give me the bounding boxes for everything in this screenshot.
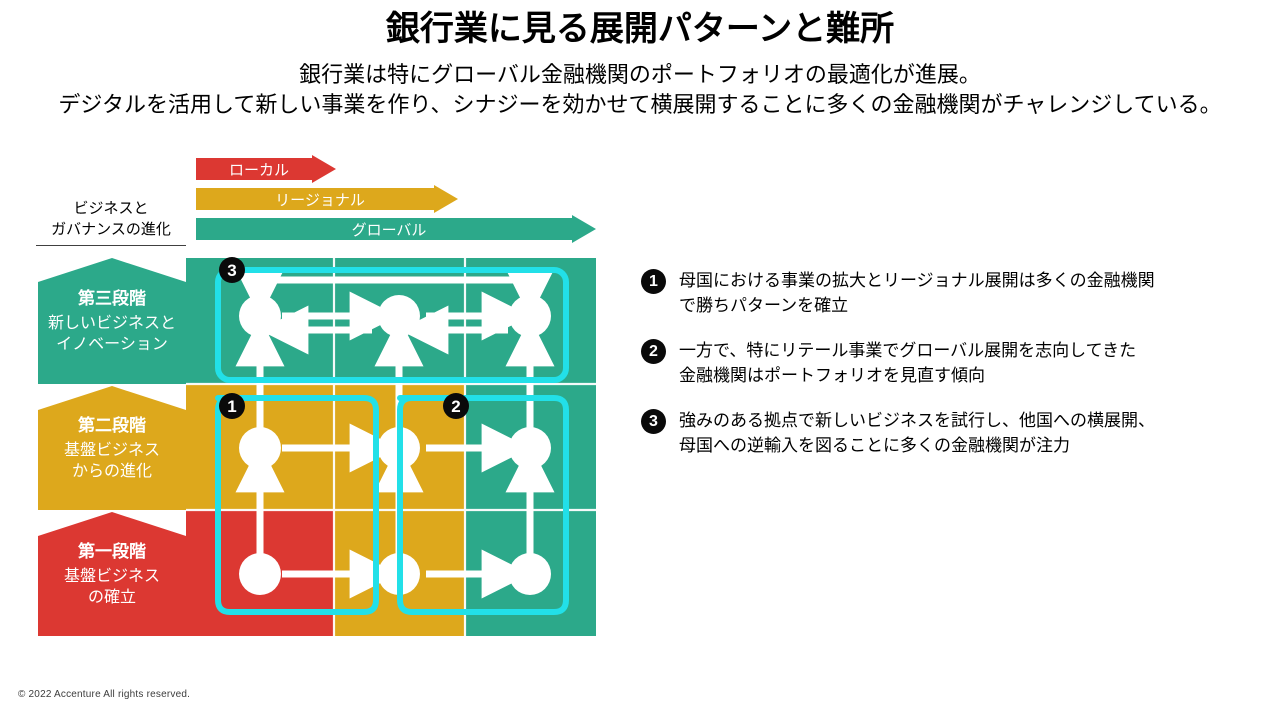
stage-2-text: 第二段階 基盤ビジネス からの進化 bbox=[64, 414, 160, 482]
legend-item-3: 3 強みのある拠点で新しいビジネスを試行し、他国への横展開、 母国への逆輸入を図… bbox=[641, 408, 1261, 458]
stage-1-text: 第一段階 基盤ビジネス の確立 bbox=[64, 540, 160, 608]
stage-2-desc-1: 基盤ビジネス bbox=[64, 440, 160, 461]
legend-text-1: 母国における事業の拡大とリージョナル展開は多くの金融機関 で勝ちパターンを確立 bbox=[679, 268, 1155, 318]
stage-chevron-2: 第二段階 基盤ビジネス からの進化 bbox=[38, 386, 186, 510]
node-r2c0 bbox=[239, 553, 281, 595]
node-r2c2 bbox=[509, 553, 551, 595]
legend-3-line-1: 強みのある拠点で新しいビジネスを試行し、他国への横展開、 bbox=[679, 411, 1155, 430]
scope-arrow-local-label: ローカル bbox=[229, 159, 303, 180]
matrix-badge-1[interactable]: 1 bbox=[219, 393, 245, 419]
scope-arrow-regional-label: リージョナル bbox=[275, 189, 379, 210]
scope-arrow-global: グローバル bbox=[196, 215, 596, 243]
scope-arrow-regional: リージョナル bbox=[196, 185, 458, 213]
node-r0c0 bbox=[239, 295, 281, 337]
copyright-footer: © 2022 Accenture All rights reserved. bbox=[18, 689, 190, 700]
node-r0c2 bbox=[509, 295, 551, 337]
stage-chevron-3: 第三段階 新しいビジネスと イノベーション bbox=[38, 258, 186, 384]
stage-1-desc-1: 基盤ビジネス bbox=[64, 566, 160, 587]
slide-canvas: 銀行業に見る展開パターンと難所 銀行業は特にグローバル金融機関のポートフォリオの… bbox=[0, 0, 1280, 720]
legend-2-line-2: 金融機関はポートフォリオを見直す傾向 bbox=[679, 363, 1136, 388]
node-r1c2 bbox=[509, 427, 551, 469]
stage-3-desc-1: 新しいビジネスと bbox=[48, 313, 176, 334]
scope-arrow-local: ローカル bbox=[196, 155, 336, 183]
stage-3-desc-2: イノベーション bbox=[48, 334, 176, 355]
matrix-badge-2[interactable]: 2 bbox=[443, 393, 469, 419]
legend-item-2: 2 一方で、特にリテール事業でグローバル展開を志向してきた 金融機関はポートフォ… bbox=[641, 338, 1261, 388]
legend-text-3: 強みのある拠点で新しいビジネスを試行し、他国への横展開、 母国への逆輸入を図るこ… bbox=[679, 408, 1155, 458]
legend-bullet-2: 2 bbox=[641, 339, 666, 364]
stage-chevron-1: 第一段階 基盤ビジネス の確立 bbox=[38, 512, 186, 636]
stage-1-desc-2: の確立 bbox=[64, 587, 160, 608]
matrix-badge-3[interactable]: 3 bbox=[219, 257, 245, 283]
stage-2-desc-2: からの進化 bbox=[64, 461, 160, 482]
subtitle-line-1: 銀行業は特にグローバル金融機関のポートフォリオの最適化が進展。 bbox=[0, 60, 1280, 90]
stage-1-name: 第一段階 bbox=[64, 540, 160, 564]
stage-2-name: 第二段階 bbox=[64, 414, 160, 438]
legend-3-line-2: 母国への逆輸入を図ることに多くの金融機関が注力 bbox=[679, 433, 1155, 458]
stage-3-name: 第三段階 bbox=[48, 287, 176, 311]
legend-list: 1 母国における事業の拡大とリージョナル展開は多くの金融機関 で勝ちパターンを確… bbox=[641, 268, 1261, 478]
legend-bullet-3: 3 bbox=[641, 409, 666, 434]
node-r0c1 bbox=[378, 295, 420, 337]
subtitle-block: 銀行業は特にグローバル金融機関のポートフォリオの最適化が進展。 デジタルを活用し… bbox=[0, 60, 1280, 120]
legend-bullet-1: 1 bbox=[641, 269, 666, 294]
page-title: 銀行業に見る展開パターンと難所 bbox=[0, 6, 1280, 52]
legend-1-line-2: で勝ちパターンを確立 bbox=[679, 293, 1155, 318]
legend-text-2: 一方で、特にリテール事業でグローバル展開を志向してきた 金融機関はポートフォリオ… bbox=[679, 338, 1136, 388]
subtitle-line-2: デジタルを活用して新しい事業を作り、シナジーを効かせて横展開することに多くの金融… bbox=[0, 90, 1280, 120]
axis-label-line-2: ガバナンスの進化 bbox=[36, 219, 186, 240]
legend-2-line-1: 一方で、特にリテール事業でグローバル展開を志向してきた bbox=[679, 341, 1136, 360]
node-r1c0 bbox=[239, 427, 281, 469]
stage-3-text: 第三段階 新しいビジネスと イノベーション bbox=[48, 287, 176, 355]
maturity-matrix bbox=[186, 258, 596, 636]
scope-arrow-global-label: グローバル bbox=[352, 219, 441, 240]
matrix-svg bbox=[186, 258, 596, 636]
vertical-axis-label: ビジネスと ガバナンスの進化 bbox=[36, 198, 186, 246]
legend-item-1: 1 母国における事業の拡大とリージョナル展開は多くの金融機関 で勝ちパターンを確… bbox=[641, 268, 1261, 318]
axis-label-line-1: ビジネスと bbox=[36, 198, 186, 219]
legend-1-line-1: 母国における事業の拡大とリージョナル展開は多くの金融機関 bbox=[679, 271, 1155, 290]
